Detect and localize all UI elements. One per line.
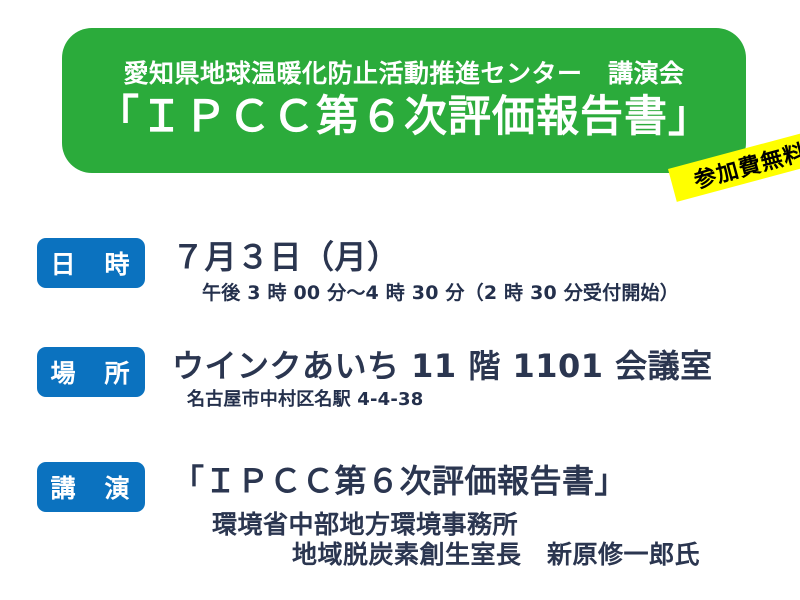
date-value: ７月３日（月） [172, 239, 800, 277]
speaker-name: 地域脱炭素創生室長 新原修一郎氏 [292, 540, 800, 570]
talk-title: 「ＩＰＣＣ第６次評価報告書」 [172, 463, 800, 501]
info-row-date: 日 時 ７月３日（月） 午後 3 時 00 分〜4 時 30 分（2 時 30 … [0, 238, 800, 306]
date-body: ７月３日（月） 午後 3 時 00 分〜4 時 30 分（2 時 30 分受付開… [172, 238, 800, 306]
label-tag-talk: 講 演 [37, 462, 145, 512]
info-row-place: 場 所 ウインクあいち 11 階 1101 会議室 名古屋市中村区名駅 4-4-… [0, 347, 800, 411]
info-row-talk: 講 演 「ＩＰＣＣ第６次評価報告書」 環境省中部地方環境事務所 地域脱炭素創生室… [0, 462, 800, 570]
venue-address: 名古屋市中村区名駅 4-4-38 [187, 389, 800, 412]
poster-root: 愛知県地球温暖化防止活動推進センター 講演会 「ＩＰＣＣ第６次評価報告書」 参加… [0, 0, 800, 600]
venue-name: ウインクあいち 11 階 1101 会議室 [172, 348, 800, 386]
label-tag-place: 場 所 [37, 347, 145, 397]
date-time-detail: 午後 3 時 00 分〜4 時 30 分（2 時 30 分受付開始） [202, 282, 800, 306]
banner-title: 「ＩＰＣＣ第６次評価報告書」 [96, 93, 712, 141]
place-body: ウインクあいち 11 階 1101 会議室 名古屋市中村区名駅 4-4-38 [172, 347, 800, 411]
header-banner: 愛知県地球温暖化防止活動推進センター 講演会 「ＩＰＣＣ第６次評価報告書」 [62, 28, 746, 173]
talk-body: 「ＩＰＣＣ第６次評価報告書」 環境省中部地方環境事務所 地域脱炭素創生室長 新原… [172, 462, 800, 570]
speaker-organization: 環境省中部地方環境事務所 [212, 510, 800, 540]
banner-subtitle: 愛知県地球温暖化防止活動推進センター 講演会 [123, 60, 684, 88]
label-tag-date: 日 時 [37, 238, 145, 288]
